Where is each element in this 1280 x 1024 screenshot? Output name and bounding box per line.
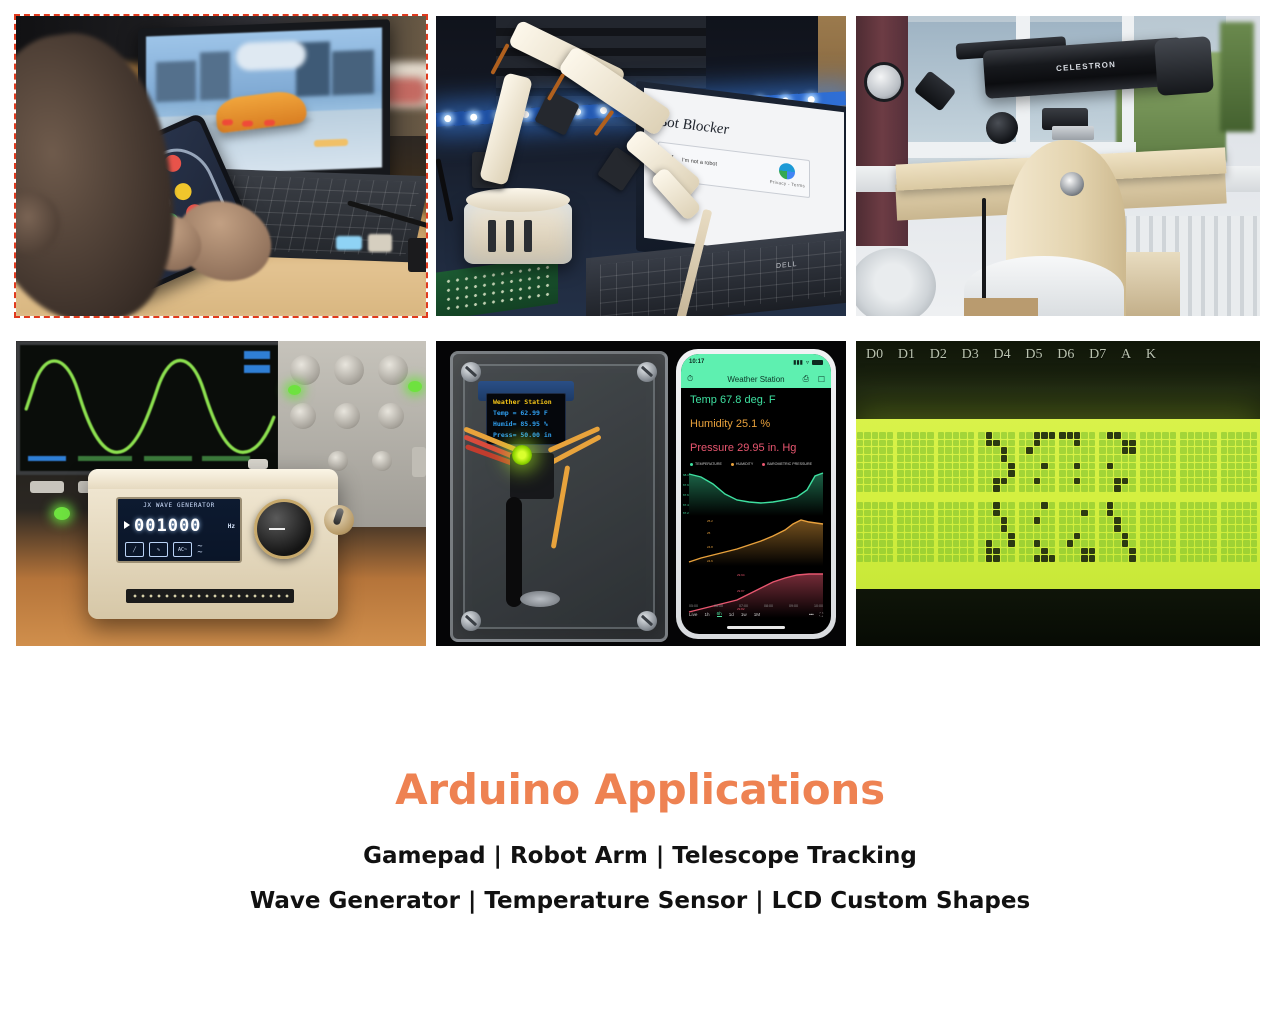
legend-item-temperature: TEMPERATURE <box>690 462 722 466</box>
svg-text:25.2: 25.2 <box>707 519 713 523</box>
oled-display: Weather Station Temp = 62.99 F Humid= 85… <box>486 393 566 445</box>
lcd-glass <box>856 419 1260 589</box>
caption-block: Arduino Applications Gamepad | Robot Arm… <box>0 764 1280 913</box>
pin-label-d6: D6 <box>1057 347 1074 363</box>
sine-waveform <box>20 345 278 467</box>
oled-temp-line: Temp = 62.99 F <box>493 409 548 417</box>
weather-station-photo: Weather Station Temp = 62.99 F Humid= 85… <box>436 341 846 646</box>
range-tab-1M[interactable]: 1M <box>754 612 760 617</box>
gallery-tile-robot-arm[interactable]: Bot Blocker ✓ I'm not a robot Privacy - … <box>436 16 846 316</box>
lcd-frequency-unit: Hz <box>228 523 235 530</box>
oled-pressure-line: Press= 50.00 in <box>493 431 552 439</box>
battery-icon <box>812 360 823 365</box>
wave-generator-lcd: JX WAVE GENERATOR 001000 Hz ╱ ∿ AC~ ∼∼ <box>116 497 242 563</box>
pin-label-d5: D5 <box>1025 347 1042 363</box>
legend-item-humidity: HUMIDITY <box>731 462 753 466</box>
power-toggle-switch[interactable] <box>324 505 354 535</box>
pin-header-strip <box>126 589 294 603</box>
pin-label-d2: D2 <box>930 347 947 363</box>
pin-label-d7: D7 <box>1089 347 1106 363</box>
gallery-tile-lcd-custom-shapes[interactable]: D0 D1 D2 D3 D4 D5 D6 D7 A K <box>856 341 1260 646</box>
phone-clock: 10:17 <box>689 359 704 365</box>
readout-temperature: Temp 67.8 deg. F <box>690 394 776 406</box>
svg-text:67.4: 67.4 <box>683 503 689 507</box>
gallery-tile-gamepad[interactable] <box>16 16 426 316</box>
telescope-photo: CELESTRON <box>856 16 1260 316</box>
range-tab-1d[interactable]: 1d <box>729 612 734 617</box>
share-icon[interactable]: ⎙ <box>803 374 809 384</box>
gallery-tile-temperature-sensor[interactable]: Weather Station Temp = 62.99 F Humid= 85… <box>436 341 846 646</box>
pin-label-d0: D0 <box>866 347 883 363</box>
range-tab-1w[interactable]: 1w <box>741 612 747 617</box>
robot-arm-photo: Bot Blocker ✓ I'm not a robot Privacy - … <box>436 16 846 316</box>
lcd-character-cell <box>1139 431 1177 493</box>
range-tab-live[interactable]: Live <box>689 612 697 617</box>
lcd-character-cell <box>856 431 894 493</box>
weather-trend-chart: 68.167.9 67.667.467.2 25.225 24.824.6 29… <box>681 470 831 620</box>
range-tab-6h[interactable]: 6h <box>717 611 722 617</box>
gamepad-photo <box>16 16 426 316</box>
oled-title: Weather Station <box>493 398 552 406</box>
gallery-tile-wave-generator[interactable]: JX WAVE GENERATOR 001000 Hz ╱ ∿ AC~ ∼∼ <box>16 341 426 646</box>
recaptcha-label: I'm not a robot <box>682 157 717 167</box>
lcd-character-cell <box>1220 431 1258 493</box>
frequency-knob[interactable] <box>254 499 314 559</box>
ramp-wave-icon: ╱ <box>125 542 144 557</box>
legend-item-pressure: BAROMETRIC PRESSURE <box>762 462 812 466</box>
lcd-character-cell <box>1058 501 1096 563</box>
bot-blocker-heading: Bot Blocker <box>658 113 729 139</box>
svg-text:24.6: 24.6 <box>707 559 713 563</box>
lcd-character-cell <box>1098 501 1136 563</box>
lcd-character-cell <box>977 431 1015 493</box>
svg-text:67.6: 67.6 <box>683 493 689 497</box>
recaptcha-logo-icon <box>779 162 795 180</box>
range-tab-1h[interactable]: 1h <box>704 612 709 617</box>
recaptcha-fineprint: Privacy - Terms <box>770 179 805 188</box>
lcd-character-cell <box>1179 431 1217 493</box>
signal-icon: ▮▮▮ <box>793 359 803 366</box>
oled-humidity-line: Humid= 85.95 % <box>493 420 548 428</box>
lcd-character-cell <box>1018 431 1056 493</box>
lcd-character-cell <box>1098 431 1136 493</box>
lcd-character-cell <box>977 501 1015 563</box>
image-gallery: Bot Blocker ✓ I'm not a robot Privacy - … <box>16 16 1264 646</box>
caption-line-1: Gamepad | Robot Arm | Telescope Tracking <box>0 845 1280 868</box>
noise-wave-icon: ∿ <box>149 542 168 557</box>
lcd-character-cell <box>1139 501 1177 563</box>
gallery-tile-telescope[interactable]: CELESTRON <box>856 16 1260 316</box>
time-range-tabs[interactable]: Live 1h 6h 1d 1w 1M ••• ⛶ <box>681 608 831 620</box>
pin-label-d1: D1 <box>898 347 915 363</box>
weather-app-phone: 10:17 ▮▮▮ ▿ ⏱ Weather Station ⎙ ☐ <box>676 349 836 639</box>
svg-text:67.2: 67.2 <box>683 511 689 515</box>
lcd-character-cell <box>1220 501 1258 563</box>
lcd-character-cell <box>1018 501 1056 563</box>
app-title: Weather Station <box>727 375 784 384</box>
oscilloscope-screen <box>16 341 282 475</box>
sine-wave-icon: ∼∼ <box>197 544 203 556</box>
ac-coupling-icon: AC~ <box>173 542 192 557</box>
lcd-pin-labels: D0 D1 D2 D3 D4 D5 D6 D7 A K <box>866 347 1156 363</box>
pin-label-a: A <box>1121 347 1131 363</box>
lcd-character-cell <box>896 431 934 493</box>
expand-icon[interactable]: ⛶ <box>820 612 823 617</box>
svg-text:29.94: 29.94 <box>737 573 745 577</box>
lcd-character-cell <box>856 501 894 563</box>
readout-pressure: Pressure 29.95 in. Hg <box>690 442 796 454</box>
lcd-custom-shapes-photo: D0 D1 D2 D3 D4 D5 D6 D7 A K <box>856 341 1260 646</box>
lcd-character-cell <box>896 501 934 563</box>
lcd-row-top <box>856 431 1260 493</box>
readout-humidity: Humidity 25.1 % <box>690 418 770 430</box>
wave-generator-photo: JX WAVE GENERATOR 001000 Hz ╱ ∿ AC~ ∼∼ <box>16 341 426 646</box>
pin-label-k: K <box>1146 347 1156 363</box>
lcd-character-cell <box>1179 501 1217 563</box>
history-icon[interactable]: ⏱ <box>687 374 693 384</box>
svg-text:29.87: 29.87 <box>737 589 745 593</box>
wifi-icon: ▿ <box>806 359 809 366</box>
lcd-character-cell <box>1058 431 1096 493</box>
lcd-character-cell <box>937 431 975 493</box>
pin-label-d4: D4 <box>994 347 1011 363</box>
caption-line-2: Wave Generator | Temperature Sensor | LC… <box>0 890 1280 913</box>
home-indicator <box>727 626 785 629</box>
play-icon <box>124 521 130 529</box>
svg-text:68.1: 68.1 <box>683 473 689 477</box>
page-title: Arduino Applications <box>0 764 1280 817</box>
chart-legend: TEMPERATURE HUMIDITY BAROMETRIC PRESSURE <box>690 462 812 466</box>
lcd-row-bottom <box>856 501 1260 563</box>
svg-text:25: 25 <box>707 531 711 535</box>
svg-text:24.8: 24.8 <box>707 545 713 549</box>
svg-text:67.9: 67.9 <box>683 483 689 487</box>
lcd-title: JX WAVE GENERATOR <box>118 502 240 509</box>
pin-label-d3: D3 <box>962 347 979 363</box>
settings-icon[interactable]: ☐ <box>818 375 825 384</box>
lcd-character-cell <box>937 501 975 563</box>
more-options-icon[interactable]: ••• <box>809 612 814 617</box>
lcd-frequency-value: 001000 <box>134 516 201 536</box>
